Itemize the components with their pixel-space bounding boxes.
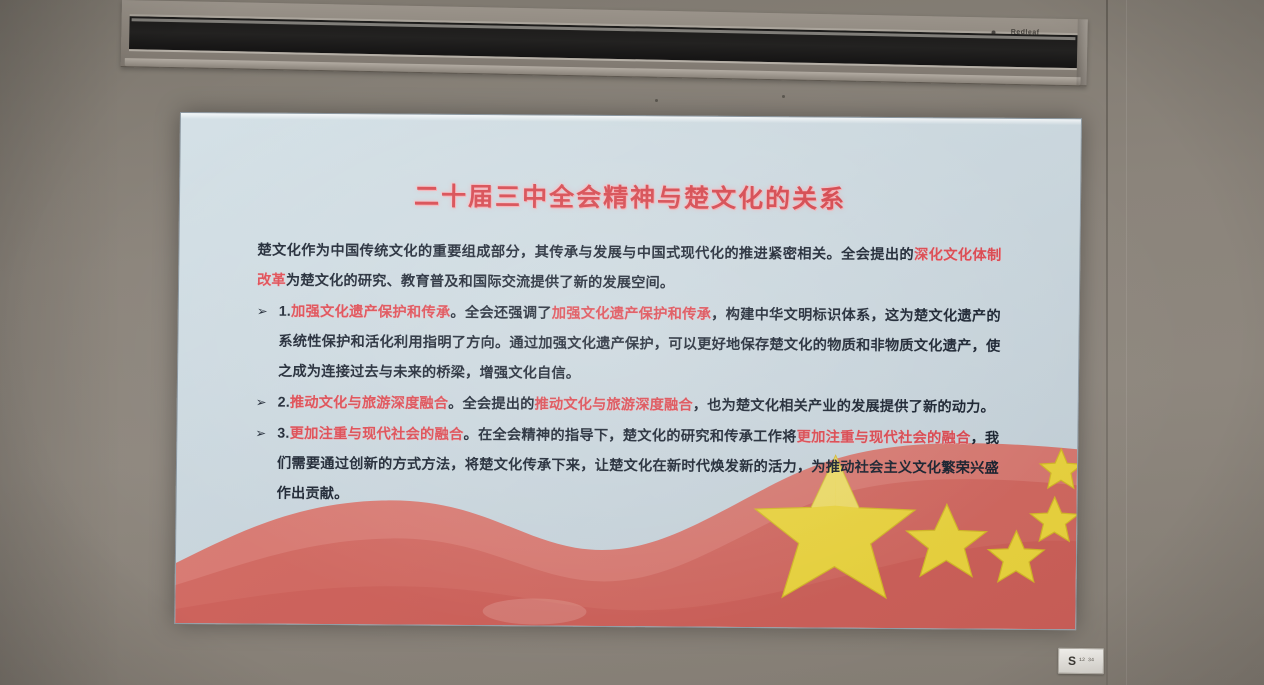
- wall-plate-code: 12 34: [1079, 658, 1094, 664]
- bullet-1-number: 1.: [279, 304, 291, 320]
- bullet-3-mid: 。在全会精神的指导下，楚文化的研究和传承工作将: [463, 427, 796, 445]
- photo-scene: Redleaf: [0, 0, 1264, 685]
- intro-paragraph: 楚文化作为中国传统文化的重要组成部分，其传承与发展与中国式现代化的推进紧密相关。…: [257, 236, 1002, 301]
- arrow-bullet-icon: ➢: [255, 419, 266, 449]
- bullet-2-tail: ，也为楚文化相关产业的发展提供了新的动力。: [693, 398, 995, 416]
- wall-seam-highlight: [1126, 0, 1127, 685]
- wall-speck-left: [655, 99, 658, 102]
- bullet-2-number: 2.: [278, 395, 290, 411]
- bullet-item-1: ➢1.加强文化遗产保护和传承。全会还强调了加强文化遗产保护和传承，构建中华文明标…: [256, 297, 1001, 392]
- arrow-bullet-icon: ➢: [257, 297, 268, 327]
- wall-plate-logo-icon: S: [1068, 655, 1076, 667]
- bullet-3-number: 3.: [277, 426, 289, 442]
- bullet-1-heading: 加强文化遗产保护和传承: [291, 304, 451, 321]
- bullet-2-heading: 推动文化与旅游深度融合: [290, 395, 448, 412]
- projected-slide[interactable]: 二十届三中全会精神与楚文化的关系 楚文化作为中国传统文化的重要组成部分，其传承与…: [174, 112, 1082, 630]
- wall-speck-right: [782, 95, 785, 98]
- bullet-item-3: ➢3.更加注重与现代社会的融合。在全会精神的指导下，楚文化的研究和传承工作将更加…: [255, 419, 1000, 514]
- bullet-2-mid: 。全会提出的: [448, 396, 535, 413]
- bullet-2-highlight: 推动文化与旅游深度融合: [534, 396, 692, 413]
- slide-text-content: 二十届三中全会精神与楚文化的关系 楚文化作为中国传统文化的重要组成部分，其传承与…: [176, 113, 1080, 515]
- intro-post: 为楚文化的研究、教育普及和国际交流提供了新的发展空间。: [286, 273, 675, 292]
- valance-brand-dot-icon: [991, 30, 995, 34]
- bullet-3-heading: 更加注重与现代社会的融合: [290, 426, 464, 443]
- wall-seam-line: [1106, 0, 1108, 685]
- slide-title: 二十届三中全会精神与楚文化的关系: [180, 175, 1080, 217]
- wall-label-plate[interactable]: S 12 34: [1058, 648, 1104, 674]
- slide-canvas: 二十届三中全会精神与楚文化的关系 楚文化作为中国传统文化的重要组成部分，其传承与…: [174, 112, 1082, 630]
- slide-body: 楚文化作为中国传统文化的重要组成部分，其传承与发展与中国式现代化的推进紧密相关。…: [255, 236, 1002, 514]
- valance-brand-label: Redleaf: [1011, 29, 1040, 37]
- bullet-1-mid: 。全会还强调了: [450, 305, 552, 322]
- bullet-3-highlight: 更加注重与现代社会的融合: [797, 429, 971, 446]
- bullet-1-highlight: 加强文化遗产保护和传承: [552, 306, 712, 323]
- intro-pre: 楚文化作为中国传统文化的重要组成部分，其传承与发展与中国式现代化的推进紧密相关。…: [257, 243, 914, 264]
- valance-endcap: [1076, 19, 1087, 85]
- arrow-bullet-icon: ➢: [256, 388, 267, 418]
- bullet-item-2: ➢2.推动文化与旅游深度融合。全会提出的推动文化与旅游深度融合，也为楚文化相关产…: [256, 388, 1000, 423]
